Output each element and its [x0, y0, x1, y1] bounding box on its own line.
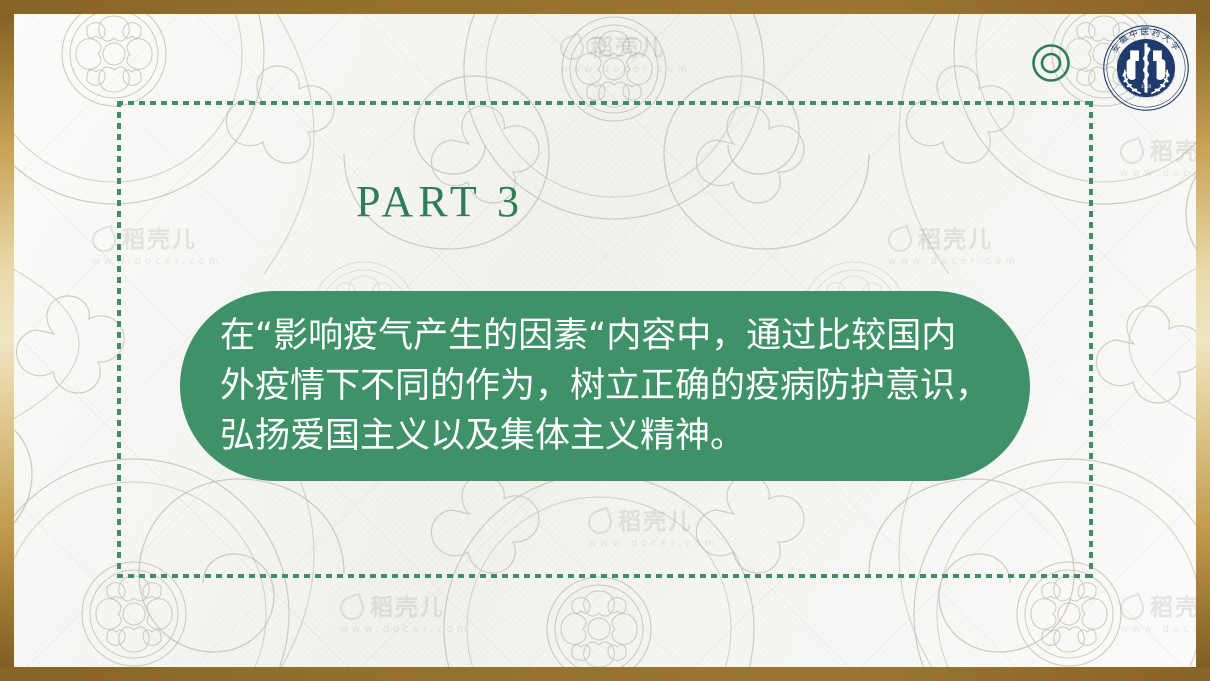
watermark: 稻壳儿 www.docer.com: [340, 596, 471, 635]
presentation-slide: 稻壳儿 www.docer.com 稻壳儿 www.docer.com 稻壳儿 …: [0, 0, 1210, 681]
double-ring-icon: [1031, 43, 1071, 83]
watermark: 稻壳儿 www.docer.com: [560, 36, 691, 75]
watermark-brand: 稻壳儿: [370, 597, 445, 620]
watermark-brand: 稻壳儿: [122, 229, 197, 252]
callout-body-text: 在“影响疫气产生的因素“内容中，通过比较国内外疫情下不同的作为，树立正确的疫病防…: [220, 311, 990, 461]
watermark-brand: 稻壳儿: [1150, 141, 1210, 164]
watermark-url: www.docer.com: [588, 539, 719, 549]
watermark: 稻壳儿 www.docer.com: [92, 228, 223, 267]
watermark-url: www.docer.com: [1120, 169, 1210, 179]
watermark: 稻壳儿 www.docer.com: [888, 228, 1019, 267]
leaf-icon: [885, 225, 916, 256]
watermark-url: www.docer.com: [92, 257, 223, 267]
watermark-url: www.docer.com: [560, 65, 691, 75]
leaf-icon: [1117, 593, 1148, 624]
watermark: 稻壳儿 www.docer.com: [1120, 596, 1210, 635]
watermark-brand: 稻壳儿: [918, 229, 993, 252]
section-title: PART 3: [0, 176, 880, 227]
frame-border-bottom: [0, 667, 1210, 681]
watermark: 稻壳儿 www.docer.com: [1120, 140, 1210, 179]
frame-border-left: [0, 0, 14, 681]
watermark-brand: 稻壳儿: [590, 37, 665, 60]
leaf-icon: [585, 507, 616, 538]
watermark: 稻壳儿 www.docer.com: [588, 510, 719, 549]
leaf-icon: [1117, 137, 1148, 168]
watermark-brand: 稻壳儿: [1150, 597, 1210, 620]
frame-border-right: [1196, 0, 1210, 681]
frame-border-top: [0, 0, 1210, 14]
leaf-icon: [337, 593, 368, 624]
watermark-url: www.docer.com: [888, 257, 1019, 267]
watermark-url: www.docer.com: [1120, 625, 1210, 635]
leaf-icon: [557, 33, 588, 64]
highlight-callout-box: 在“影响疫气产生的因素“内容中，通过比较国内外疫情下不同的作为，树立正确的疫病防…: [180, 291, 1030, 481]
logo-year: 1959: [1141, 84, 1152, 90]
watermark-url: www.docer.com: [340, 625, 471, 635]
leaf-icon: [89, 225, 120, 256]
watermark-brand: 稻壳儿: [618, 511, 693, 534]
university-logo: 1959 安徽中医药大学 Anhui University of Chinese…: [1102, 24, 1190, 112]
